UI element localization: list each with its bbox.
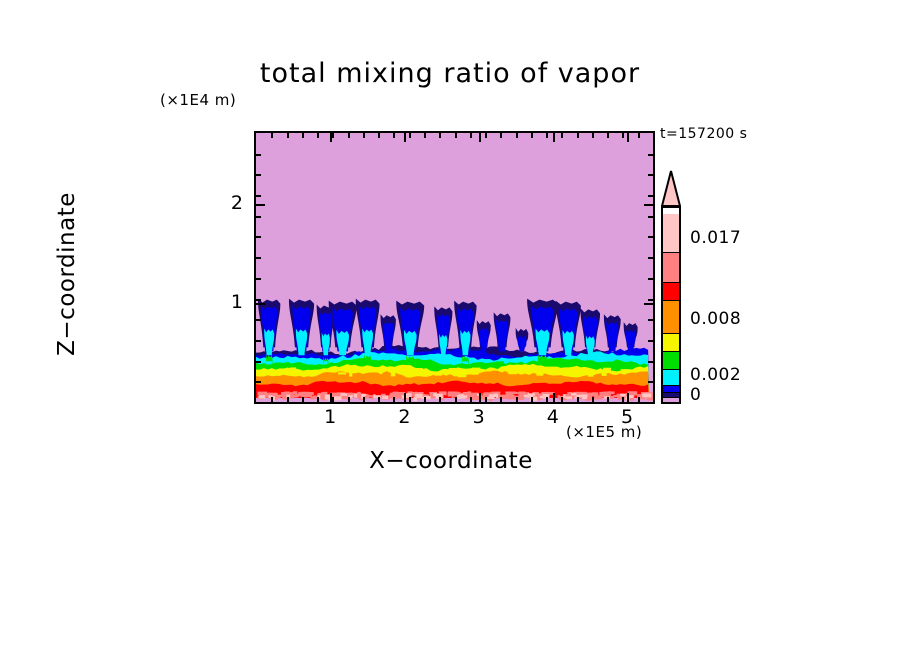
contour-field (256, 133, 653, 402)
axis-tick (256, 381, 261, 383)
contour-speckle-yellow (542, 368, 546, 371)
axis-tick (648, 154, 653, 156)
axis-tick (470, 397, 472, 402)
contour-speckle-yellow (603, 368, 611, 372)
contour-speckle-light-pink (496, 394, 498, 398)
axis-tick (287, 133, 289, 138)
axis-tick (648, 236, 653, 238)
contour-speckle-light-pink (413, 397, 417, 401)
y-axis-unit-label: (×1E4 m) (160, 91, 236, 109)
axis-tick (648, 361, 653, 363)
contour-speckle-yellow (602, 371, 607, 376)
contour-speckle-salmon (258, 392, 268, 396)
colorbar-band-green (663, 351, 679, 369)
axis-tick (622, 133, 624, 138)
axis-tick (317, 397, 319, 402)
axis-tick (332, 133, 334, 138)
contour-speckle-yellow (563, 368, 570, 371)
axis-tick (256, 236, 261, 238)
axis-tick (256, 361, 261, 363)
axis-tick (638, 133, 640, 138)
x-axis-label: X−coordinate (0, 448, 904, 474)
axis-tick (479, 393, 481, 402)
axis-tick (439, 133, 441, 138)
axis-tick (485, 133, 487, 138)
axis-tick (648, 174, 653, 176)
axis-tick (648, 257, 653, 259)
contour-speckle-light-pink (259, 395, 265, 399)
colorbar-band-yellow (663, 333, 679, 351)
contour-speckle-salmon (596, 396, 600, 399)
axis-tick (363, 397, 365, 402)
axis-tick (256, 204, 265, 206)
axis-tick (516, 397, 518, 402)
contour-speckle-salmon (310, 392, 314, 395)
axis-tick (644, 204, 653, 206)
contour-speckle-yellow (434, 373, 442, 376)
axis-tick (622, 397, 624, 402)
axis-tick (409, 397, 411, 402)
axis-tick (393, 133, 395, 138)
axis-tick (531, 397, 533, 402)
axis-tick (256, 303, 265, 305)
colorbar-band-cyan (663, 369, 679, 385)
axis-tick (648, 381, 653, 383)
contour-plot-area (254, 131, 655, 404)
contour-speckle-yellow (472, 368, 480, 370)
axis-tick (516, 133, 518, 138)
time-stamp-label: t=157200 s (660, 126, 747, 142)
contour-speckle-light-pink (415, 394, 421, 397)
contour-speckle-yellow (291, 371, 296, 375)
axis-tick (648, 319, 653, 321)
axis-tick (648, 278, 653, 280)
axis-tick (627, 393, 629, 402)
x-tick-label: 1 (318, 406, 342, 428)
x-tick-label: 2 (392, 406, 416, 428)
axis-tick (424, 133, 426, 138)
contour-speckle-yellow (514, 369, 523, 371)
axis-tick (256, 278, 261, 280)
contour-speckle-yellow (415, 368, 422, 373)
axis-tick (378, 133, 380, 138)
axis-tick (546, 133, 548, 138)
contour-speckle-yellow (290, 367, 296, 370)
contour-speckle-yellow (349, 372, 352, 377)
colorbar-band-orange (663, 300, 679, 333)
axis-tick (577, 397, 579, 402)
axis-tick (256, 154, 261, 156)
contour-speckle-light-pink (373, 394, 375, 398)
axis-tick (271, 133, 273, 138)
axis-tick (302, 397, 304, 402)
axis-tick (479, 133, 481, 142)
contour-speckle-yellow (471, 370, 478, 374)
axis-tick (470, 133, 472, 138)
x-axis-unit-label: (×1E5 m) (566, 423, 642, 441)
axis-tick (378, 397, 380, 402)
contour-speckle-salmon (313, 395, 316, 398)
axis-tick (424, 397, 426, 402)
contour-speckle-salmon (506, 395, 514, 398)
contour-speckle-light-pink (645, 393, 652, 397)
axis-tick (330, 393, 332, 402)
colorbar (661, 206, 681, 404)
axis-tick (256, 195, 261, 197)
contour-speckle-yellow (458, 372, 467, 377)
axis-tick (648, 340, 653, 342)
axis-tick (561, 133, 563, 138)
axis-tick (393, 397, 395, 402)
axis-tick (409, 133, 411, 138)
axis-tick (332, 397, 334, 402)
contour-speckle-yellow (536, 372, 540, 376)
axis-tick (256, 216, 261, 218)
axis-tick (500, 133, 502, 138)
contour-speckle-yellow (590, 369, 593, 374)
contour-speckle-yellow (306, 372, 312, 374)
axis-tick (256, 319, 261, 321)
contour-speckle-salmon (602, 392, 610, 396)
y-tick-label: 2 (223, 192, 243, 214)
axis-tick (439, 397, 441, 402)
contour-speckle-yellow (508, 371, 517, 374)
contour-speckle-light-pink (571, 393, 576, 395)
axis-tick (404, 393, 406, 402)
axis-tick (553, 393, 555, 402)
axis-tick (317, 133, 319, 138)
x-tick-label: 4 (541, 406, 565, 428)
contour-speckle-salmon (293, 391, 297, 394)
colorbar-arrow-cap (661, 170, 681, 207)
axis-tick (404, 133, 406, 142)
contour-speckle-light-pink (350, 396, 353, 398)
y-tick-label: 1 (223, 291, 243, 313)
contour-speckle-yellow (545, 368, 552, 373)
contour-speckle-salmon (320, 393, 324, 396)
axis-tick (627, 133, 629, 142)
axis-tick (644, 303, 653, 305)
contour-speckle-yellow (452, 368, 458, 370)
contour-speckle-yellow (370, 370, 376, 372)
contour-speckle-light-pink (457, 395, 460, 399)
axis-tick (330, 133, 332, 142)
axis-tick (561, 397, 563, 402)
axis-tick (638, 397, 640, 402)
contour-speckle-light-pink (361, 394, 365, 396)
axis-tick (363, 133, 365, 138)
axis-tick (592, 133, 594, 138)
axis-tick (607, 397, 609, 402)
colorbar-label: 0.008 (690, 309, 741, 329)
contour-speckle-light-pink (354, 394, 357, 398)
contour-speckle-light-pink (620, 394, 625, 397)
axis-tick (531, 133, 533, 138)
axis-tick (256, 174, 261, 176)
contour-speckle-light-pink (461, 396, 467, 399)
figure-canvas: total mixing ratio of vapor (×1E4 m) t=1… (0, 0, 904, 654)
contour-speckle-light-pink (487, 397, 494, 399)
axis-tick (592, 397, 594, 402)
axis-tick (648, 216, 653, 218)
contour-speckle-yellow (379, 370, 382, 374)
contour-speckle-yellow (338, 368, 344, 371)
contour-speckle-yellow (621, 369, 626, 371)
contour-speckle-light-pink (382, 396, 388, 399)
axis-tick (485, 397, 487, 402)
axis-tick (577, 133, 579, 138)
axis-tick (648, 299, 653, 301)
contour-speckle-salmon (592, 392, 599, 396)
colorbar-band-light-pink (663, 214, 679, 252)
contour-speckle-light-pink (565, 396, 572, 399)
colorbar-band-red (663, 282, 679, 300)
y-axis-label: Z−coordinate (54, 144, 80, 404)
axis-tick (455, 133, 457, 138)
axis-tick (348, 133, 350, 138)
colorbar-label: 0.002 (690, 365, 741, 385)
colorbar-label: 0.017 (690, 228, 741, 248)
axis-tick (348, 397, 350, 402)
axis-tick (287, 397, 289, 402)
contour-speckle-salmon (513, 392, 519, 394)
contour-speckle-yellow (338, 372, 346, 374)
contour-speckle-light-pink (582, 397, 587, 399)
axis-tick (302, 133, 304, 138)
contour-speckle-yellow (391, 372, 396, 376)
colorbar-band-salmon (663, 252, 679, 282)
axis-tick (256, 299, 261, 301)
chart-title-text: total mixing ratio of vapor (260, 58, 640, 89)
axis-tick (256, 257, 261, 259)
x-axis-label-text: X−coordinate (369, 448, 533, 474)
axis-tick (607, 133, 609, 138)
contour-speckle-light-pink (334, 396, 342, 400)
axis-tick (455, 397, 457, 402)
contour-speckle-yellow (569, 371, 577, 374)
axis-tick (271, 397, 273, 402)
axis-tick (546, 397, 548, 402)
colorbar-label: 0 (690, 385, 701, 405)
x-tick-label: 3 (467, 406, 491, 428)
axis-tick (256, 340, 261, 342)
colorbar-band-blue (663, 385, 679, 392)
contour-speckle-salmon (483, 393, 486, 396)
contour-speckle-light-pink (581, 394, 588, 396)
axis-tick (500, 397, 502, 402)
axis-tick (553, 133, 555, 142)
contour-speckle-light-pink (341, 393, 348, 395)
chart-title: total mixing ratio of vapor (0, 58, 904, 89)
axis-tick (648, 195, 653, 197)
